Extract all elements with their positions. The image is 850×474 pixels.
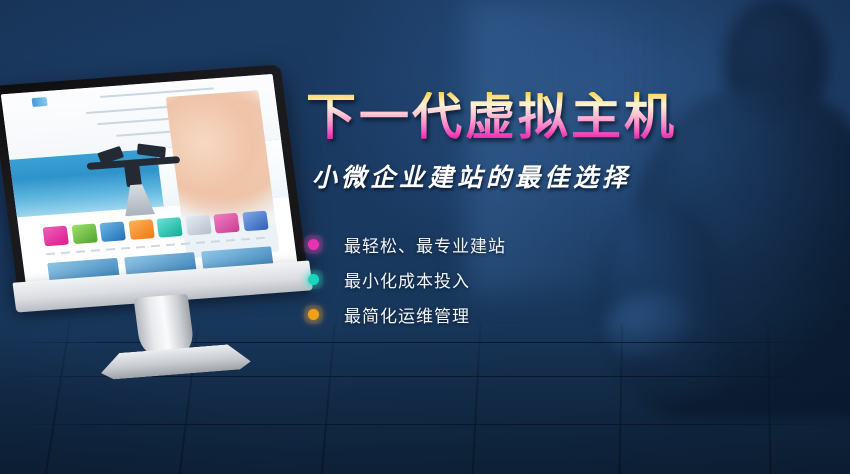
website-icon-6 (185, 215, 211, 236)
website-icon-4 (128, 219, 154, 240)
promo-text-block: 下一代虚拟主机 小微企业建站的最佳选择 最轻松、最专业建站 最小化成本投入 最简… (300, 92, 720, 332)
list-item: 最轻松、最专业建站 (304, 227, 720, 262)
website-icon-8 (242, 211, 268, 232)
feature-label: 最简化运维管理 (344, 302, 470, 327)
bullet-dot-magenta-icon (304, 235, 323, 254)
monitor-bezel (0, 64, 308, 296)
bullet-dot-orange-icon (304, 305, 323, 324)
website-icon-3 (100, 221, 126, 242)
bullet-dot-teal-icon (304, 270, 323, 289)
monitor-screen (1, 74, 298, 286)
list-item: 最小化成本投入 (304, 262, 720, 297)
website-icon-7 (214, 213, 240, 234)
website-logo (31, 97, 47, 107)
feature-label: 最小化成本投入 (344, 267, 470, 292)
hosting-promo-banner: 下一代虚拟主机 小微企业建站的最佳选择 最轻松、最专业建站 最小化成本投入 最简… (0, 0, 850, 474)
page-title: 下一代虚拟主机 (306, 92, 720, 142)
feature-label: 最轻松、最专业建站 (344, 232, 506, 257)
desktop-monitor (0, 56, 326, 422)
website-icon-5 (157, 217, 183, 238)
feature-list: 最轻松、最专业建站 最小化成本投入 最简化运维管理 (304, 227, 720, 332)
page-subtitle: 小微企业建站的最佳选择 (312, 158, 720, 194)
list-item: 最简化运维管理 (304, 297, 720, 332)
website-icon-1 (43, 226, 69, 247)
website-icon-2 (71, 223, 97, 244)
